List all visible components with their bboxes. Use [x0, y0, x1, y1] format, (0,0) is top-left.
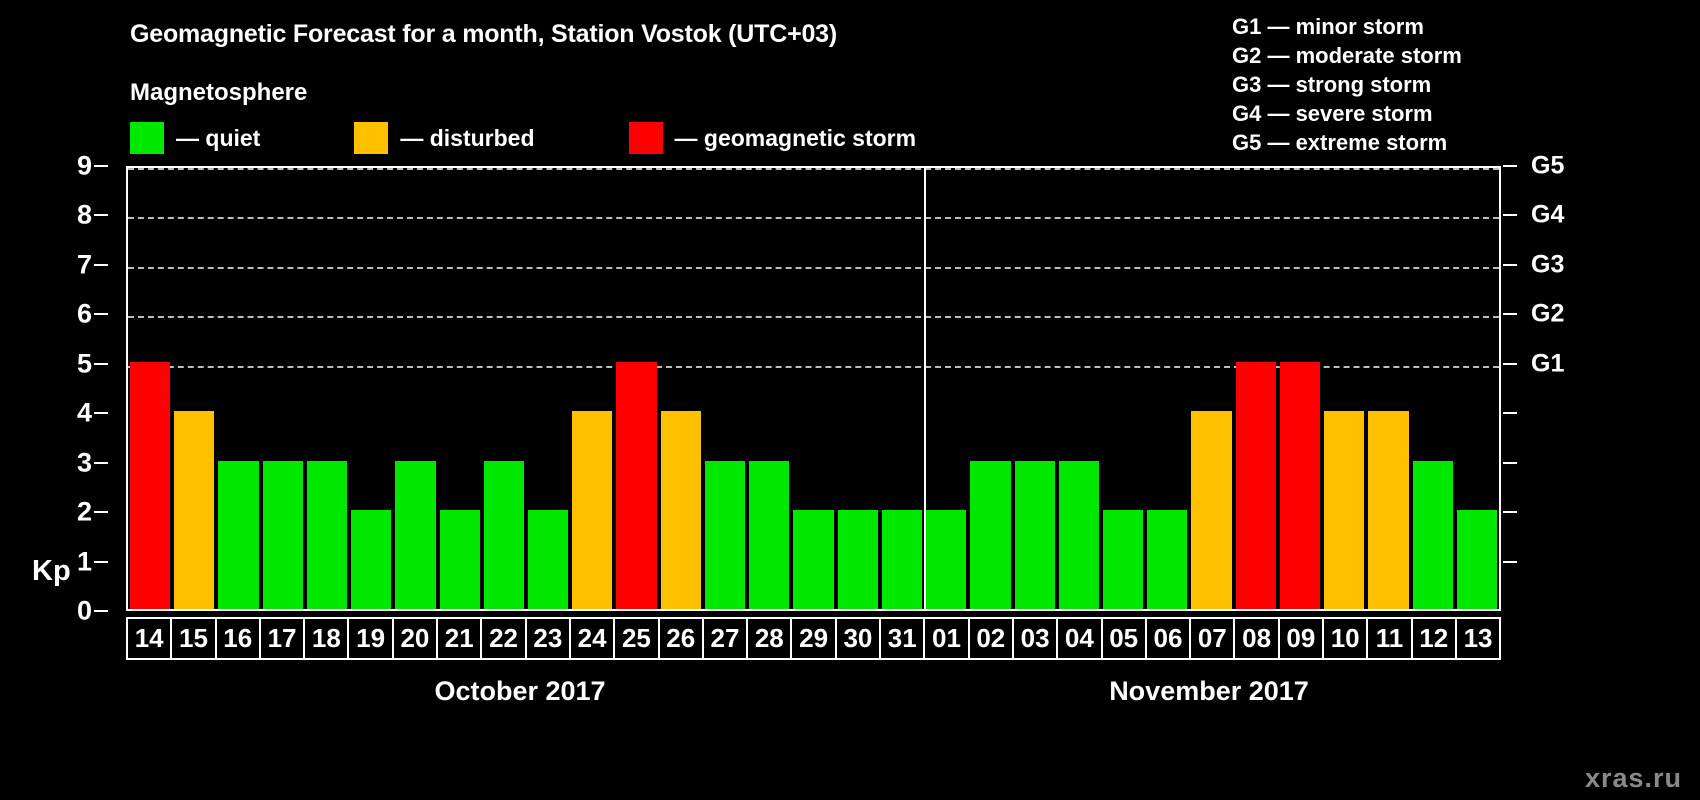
day-label-08[interactable]: 08 — [1233, 617, 1279, 660]
bar-day-31[interactable] — [882, 510, 922, 609]
y-tick-label-3: 3 — [77, 447, 92, 478]
legend-label-storm: — geomagnetic storm — [675, 125, 917, 152]
day-label-29[interactable]: 29 — [790, 617, 836, 660]
g-tick-mark-minor-1 — [1503, 561, 1517, 563]
y-tick-mark-3 — [94, 462, 108, 464]
g-tick-label-G4: G4 — [1531, 201, 1564, 230]
y-tick-mark-2 — [94, 511, 108, 513]
bar-day-14[interactable] — [130, 362, 170, 609]
bar-day-13[interactable] — [1457, 510, 1497, 609]
bar-day-05[interactable] — [1103, 510, 1143, 609]
legend-label-disturbed: — disturbed — [400, 125, 534, 152]
bar-day-21[interactable] — [440, 510, 480, 609]
day-label-21[interactable]: 21 — [436, 617, 482, 660]
legend-swatch-disturbed — [354, 122, 388, 154]
bar-day-30[interactable] — [838, 510, 878, 609]
y-tick-label-2: 2 — [77, 497, 92, 528]
g-scale-legend-line-5: G5 — extreme storm — [1232, 128, 1462, 157]
g-tick-mark-minor-4 — [1503, 412, 1517, 414]
bar-day-12[interactable] — [1413, 461, 1453, 609]
bar-day-19[interactable] — [351, 510, 391, 609]
bar-day-10[interactable] — [1324, 411, 1364, 609]
y-tick-label-0: 0 — [77, 596, 92, 627]
day-label-03[interactable]: 03 — [1012, 617, 1058, 660]
day-label-11[interactable]: 11 — [1366, 617, 1412, 660]
day-label-10[interactable]: 10 — [1322, 617, 1368, 660]
g-scale-legend-line-4: G4 — severe storm — [1232, 99, 1462, 128]
bar-day-27[interactable] — [705, 461, 745, 609]
day-label-04[interactable]: 04 — [1056, 617, 1102, 660]
y-tick-mark-7 — [94, 264, 108, 266]
bar-day-08[interactable] — [1236, 362, 1276, 609]
bar-day-04[interactable] — [1059, 461, 1099, 609]
day-label-09[interactable]: 09 — [1278, 617, 1324, 660]
g-scale-legend-line-2: G2 — moderate storm — [1232, 41, 1462, 70]
page-title: Geomagnetic Forecast for a month, Statio… — [130, 20, 837, 49]
g-tick-mark-G3 — [1503, 264, 1517, 266]
g-tick-mark-minor-3 — [1503, 462, 1517, 464]
y-tick-mark-0 — [94, 610, 108, 612]
month-divider-line — [924, 166, 926, 611]
bar-day-20[interactable] — [395, 461, 435, 609]
day-label-15[interactable]: 15 — [170, 617, 216, 660]
day-label-18[interactable]: 18 — [303, 617, 349, 660]
legend-swatch-quiet — [130, 122, 164, 154]
y-axis-title: Kp — [32, 555, 71, 588]
day-label-13[interactable]: 13 — [1455, 617, 1501, 660]
bar-day-18[interactable] — [307, 461, 347, 609]
g-scale-axis: G1G2G3G4G5 — [1501, 166, 1700, 611]
bar-day-09[interactable] — [1280, 362, 1320, 609]
day-label-01[interactable]: 01 — [923, 617, 969, 660]
day-label-12[interactable]: 12 — [1411, 617, 1457, 660]
day-label-02[interactable]: 02 — [968, 617, 1014, 660]
bar-day-16[interactable] — [218, 461, 258, 609]
color-legend: — quiet— disturbed— geomagnetic storm — [130, 122, 916, 154]
y-tick-mark-8 — [94, 214, 108, 216]
bar-day-25[interactable] — [616, 362, 656, 609]
day-label-22[interactable]: 22 — [480, 617, 526, 660]
legend-item-disturbed: — disturbed — [354, 122, 534, 154]
bar-day-17[interactable] — [263, 461, 303, 609]
watermark: xras.ru — [1585, 763, 1682, 794]
bar-day-15[interactable] — [174, 411, 214, 609]
g-tick-mark-G4 — [1503, 214, 1517, 216]
bar-day-03[interactable] — [1015, 461, 1055, 609]
y-tick-mark-9 — [94, 165, 108, 167]
g-tick-mark-G5 — [1503, 165, 1517, 167]
g-tick-label-G3: G3 — [1531, 250, 1564, 279]
day-label-16[interactable]: 16 — [215, 617, 261, 660]
y-tick-label-7: 7 — [77, 249, 92, 280]
month-label-2: November 2017 — [1109, 676, 1309, 707]
day-label-23[interactable]: 23 — [525, 617, 571, 660]
y-tick-mark-6 — [94, 313, 108, 315]
bar-day-07[interactable] — [1191, 411, 1231, 609]
bar-day-01[interactable] — [926, 510, 966, 609]
legend-label-quiet: — quiet — [176, 125, 260, 152]
y-tick-mark-1 — [94, 561, 108, 563]
bars-layer — [128, 168, 1499, 609]
y-tick-label-1: 1 — [77, 546, 92, 577]
day-label-25[interactable]: 25 — [613, 617, 659, 660]
bar-day-11[interactable] — [1368, 411, 1408, 609]
day-label-06[interactable]: 06 — [1145, 617, 1191, 660]
y-tick-mark-5 — [94, 363, 108, 365]
g-tick-mark-minor-2 — [1503, 511, 1517, 513]
g-scale-legend: G1 — minor stormG2 — moderate stormG3 — … — [1232, 12, 1462, 157]
bar-day-23[interactable] — [528, 510, 568, 609]
bar-day-22[interactable] — [484, 461, 524, 609]
y-axis: Kp 0123456789 — [0, 166, 126, 611]
day-label-17[interactable]: 17 — [259, 617, 305, 660]
g-tick-label-G1: G1 — [1531, 349, 1564, 378]
day-label-05[interactable]: 05 — [1101, 617, 1147, 660]
day-label-20[interactable]: 20 — [392, 617, 438, 660]
bar-day-28[interactable] — [749, 461, 789, 609]
day-label-07[interactable]: 07 — [1189, 617, 1235, 660]
bar-day-29[interactable] — [793, 510, 833, 609]
day-label-28[interactable]: 28 — [746, 617, 792, 660]
legend-swatch-storm — [629, 122, 663, 154]
day-label-27[interactable]: 27 — [702, 617, 748, 660]
g-tick-label-G5: G5 — [1531, 152, 1564, 181]
day-label-24[interactable]: 24 — [569, 617, 615, 660]
magnetosphere-section-label: Magnetosphere — [130, 79, 307, 107]
day-axis: 1415161718192021222324252627282930310102… — [126, 617, 1501, 660]
y-tick-label-6: 6 — [77, 299, 92, 330]
y-tick-label-4: 4 — [77, 398, 92, 429]
plot-area — [126, 166, 1501, 611]
day-label-14[interactable]: 14 — [126, 617, 172, 660]
bar-day-06[interactable] — [1147, 510, 1187, 609]
y-tick-label-9: 9 — [77, 151, 92, 182]
day-label-30[interactable]: 30 — [835, 617, 881, 660]
month-label-1: October 2017 — [434, 676, 605, 707]
bar-day-02[interactable] — [970, 461, 1010, 609]
legend-item-quiet: — quiet — [130, 122, 260, 154]
y-tick-label-8: 8 — [77, 200, 92, 231]
g-tick-label-G2: G2 — [1531, 300, 1564, 329]
legend-item-storm: — geomagnetic storm — [629, 122, 917, 154]
y-tick-mark-4 — [94, 412, 108, 414]
g-scale-legend-line-3: G3 — strong storm — [1232, 70, 1462, 99]
bar-day-24[interactable] — [572, 411, 612, 609]
bar-day-26[interactable] — [661, 411, 701, 609]
day-label-19[interactable]: 19 — [347, 617, 393, 660]
y-tick-label-5: 5 — [77, 348, 92, 379]
g-tick-mark-G1 — [1503, 363, 1517, 365]
g-scale-legend-line-1: G1 — minor storm — [1232, 12, 1462, 41]
day-label-31[interactable]: 31 — [879, 617, 925, 660]
day-label-26[interactable]: 26 — [658, 617, 704, 660]
plot-inner — [128, 168, 1499, 609]
geomagnetic-forecast-chart: Geomagnetic Forecast for a month, Statio… — [0, 0, 1700, 800]
g-tick-mark-G2 — [1503, 313, 1517, 315]
